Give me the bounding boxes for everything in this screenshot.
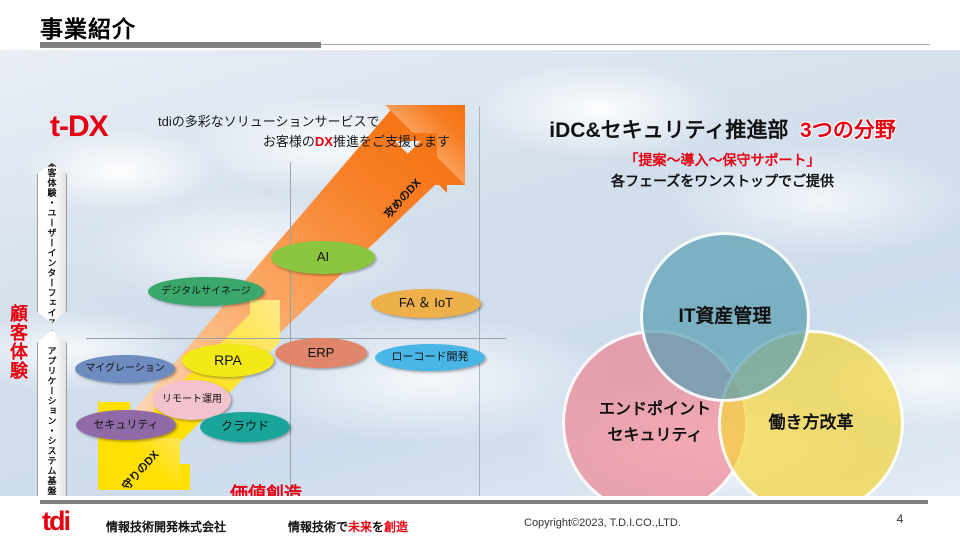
copyright-notice: Copyright©2023, T.D.I.CO.,LTD.	[524, 517, 681, 529]
company-slogan: 情報技術で未来を創造	[288, 518, 408, 535]
axis-caption-customer-experience: 顧客体験	[2, 305, 36, 381]
solution-bubble: デジタルサイネージ	[148, 277, 264, 306]
right-panel-subtitle-black: 各フェーズをワンストップでご提供	[495, 171, 950, 191]
solution-bubble: ERP	[275, 338, 367, 368]
t-dx-logo: t-DX	[50, 110, 108, 144]
solution-bubble: セキュリティ	[76, 410, 176, 440]
title-rule-thin	[321, 44, 930, 45]
axis-label-customer-experience: 顧客体験・ユーザーインターフェイス	[37, 163, 67, 323]
right-panel-title: iDC&セキュリティ推進部 3つの分野	[495, 114, 950, 144]
right-panel-title-main: iDC&セキュリティ推進部	[549, 119, 788, 142]
solution-bubble: RPA	[182, 344, 274, 377]
footer-rule	[40, 500, 928, 504]
solution-bubble: ローコード開発	[375, 344, 485, 371]
axis-label-customer-experience-text: 顧客体験・ユーザーインターフェイス	[46, 158, 59, 328]
t-dx-tagline-line1: tdiの多彩なソリューションサービスで	[150, 112, 450, 132]
title-rule-thick	[40, 42, 321, 48]
chart-horizontal-gridline	[86, 338, 506, 339]
venn-label-workstyle-reform: 働き方改革	[765, 409, 858, 436]
t-dx-tagline-line2: お客様のDX推進をご支援します	[150, 132, 450, 152]
solution-bubble: クラウド	[200, 412, 290, 442]
tagline-text-b: 推進をご支援します	[333, 134, 450, 149]
page-title: 事業紹介	[40, 10, 136, 44]
slide-body-sky-background: 攻めのDX 守りのDX AIデジタルサイネージFA ＆ IoTERPローコード開…	[0, 50, 960, 496]
solution-bubble: FA ＆ IoT	[371, 289, 481, 318]
right-panel-subtitle-red: 「提案～導入～保守サポート」	[495, 150, 950, 170]
solution-bubble: AI	[271, 241, 375, 274]
tagline-text-a: お客様の	[263, 134, 315, 149]
slogan-text-b: を	[372, 520, 384, 534]
t-dx-tagline: tdiの多彩なソリューションサービスで お客様のDX推進をご支援します	[150, 112, 450, 151]
venn-circle-it-asset-management: IT資産管理	[640, 232, 810, 402]
value-creation-label: 価値創造	[230, 480, 302, 496]
axis-label-application-platform: アプリケーション・システム基盤	[37, 330, 67, 496]
venn-label-it-asset-management: IT資産管理	[675, 302, 776, 332]
right-panel-title-accent: 3つの分野	[800, 119, 896, 142]
company-name: 情報技術開発株式会社	[106, 518, 226, 535]
slogan-accent-create: 創造	[384, 520, 408, 534]
solution-bubble: マイグレーション	[75, 355, 175, 383]
slogan-text-a: 情報技術で	[288, 520, 348, 534]
slogan-accent-future: 未来	[348, 520, 372, 534]
chart-vertical-gridline	[290, 162, 291, 496]
venn-label-endpoint-security: エンドポイントセキュリティ	[595, 397, 715, 448]
tdi-logo-text: tdi	[42, 506, 69, 536]
tagline-dx-accent: DX	[315, 134, 333, 149]
page-number: 4	[890, 512, 910, 526]
axis-label-application-platform-text: アプリケーション・システム基盤	[46, 346, 59, 496]
tdi-logo: tdi	[42, 508, 69, 535]
